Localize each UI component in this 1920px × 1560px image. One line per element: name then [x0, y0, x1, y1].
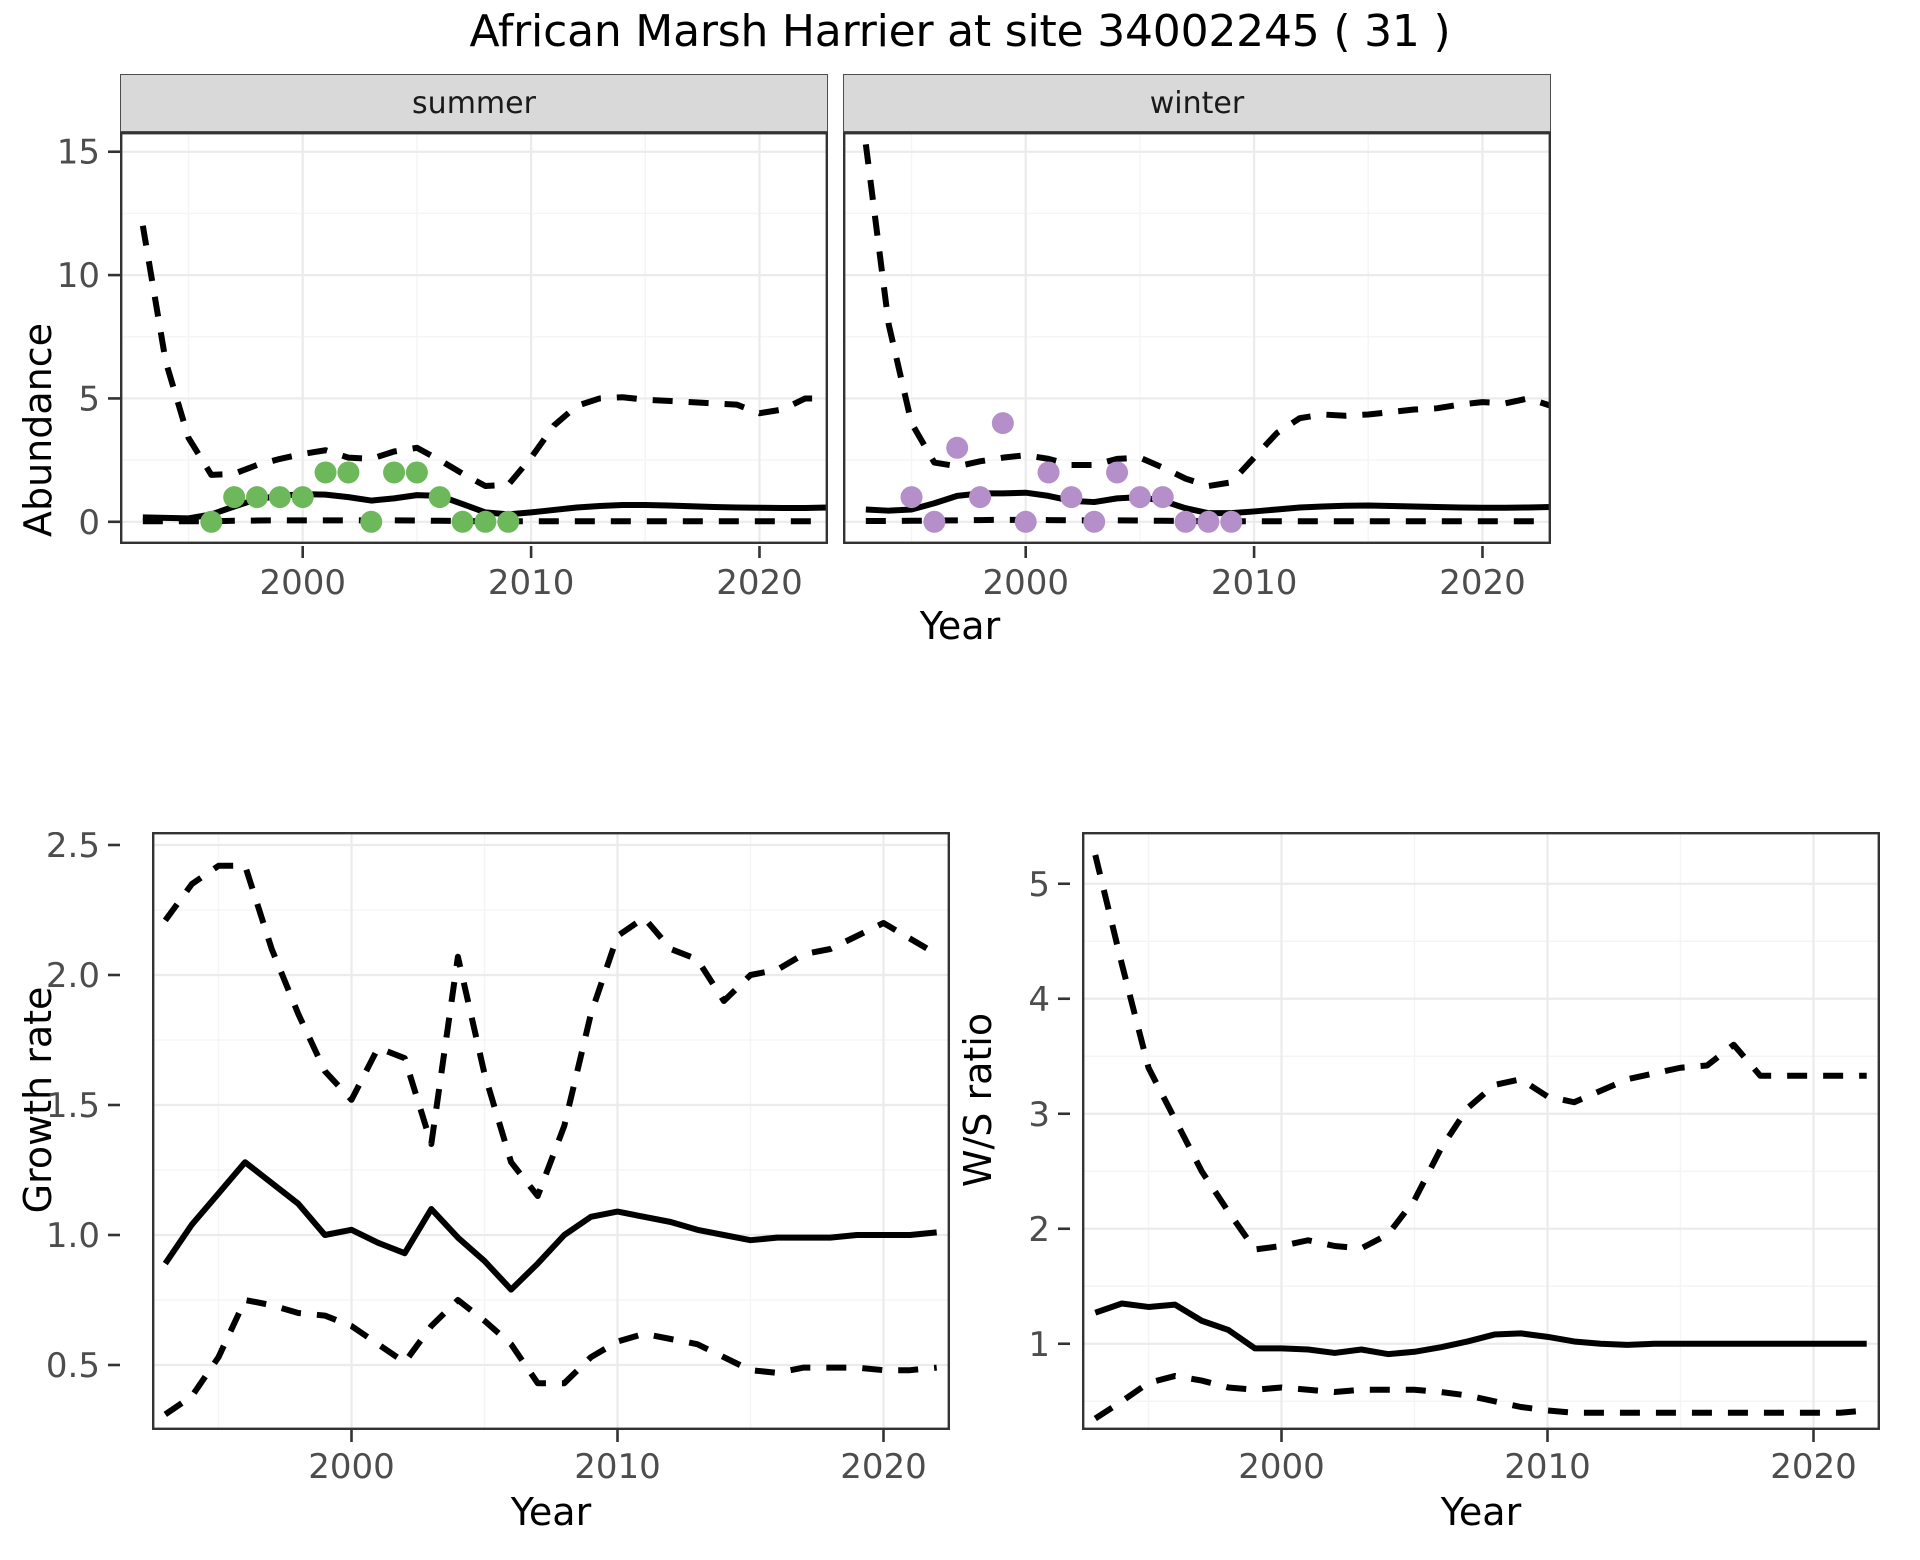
data-point [360, 511, 382, 533]
data-point [1129, 486, 1151, 508]
data-point [383, 461, 405, 483]
y-tick-label: 1.5 [46, 1086, 100, 1126]
x-tick-label: 2010 [1504, 1447, 1591, 1486]
y-tick-label: 3 [1028, 1095, 1050, 1135]
x-tick-label: 2020 [1439, 563, 1526, 603]
data-point [1175, 511, 1197, 533]
x-tick-label: 2010 [574, 1447, 661, 1486]
y-tick-label: 4 [1028, 980, 1050, 1020]
y-tick-label: 1 [1028, 1325, 1050, 1365]
data-point [223, 486, 245, 508]
figure-root: African Marsh Harrier at site 34002245 (… [0, 0, 1920, 1560]
data-point [946, 437, 968, 459]
growth-x-axis-label: Year [152, 1490, 950, 1534]
x-tick-label: 2020 [716, 563, 803, 603]
data-point [497, 511, 519, 533]
data-point [337, 461, 359, 483]
data-point [1060, 486, 1082, 508]
data-point [901, 486, 923, 508]
data-point [1083, 511, 1105, 533]
data-point [923, 511, 945, 533]
x-tick-label: 2020 [1770, 1447, 1857, 1486]
plot-background [843, 132, 1551, 544]
y-tick-label: 5 [78, 379, 100, 419]
y-tick-label: 2.5 [46, 832, 100, 866]
x-tick-label: 2010 [1211, 563, 1298, 603]
xaxis-growth: 200020102020 [152, 1430, 950, 1486]
panel-abundance-winter: winter [843, 74, 1551, 544]
data-point [992, 412, 1014, 434]
plot-background [152, 832, 950, 1430]
data-point [1106, 461, 1128, 483]
y-tick-label: 2 [1028, 1210, 1050, 1250]
data-point [315, 461, 337, 483]
y-tick-label: 2.0 [46, 956, 100, 996]
x-tick-label: 2000 [259, 563, 346, 603]
y-tick-label: 0 [78, 503, 100, 543]
data-point [292, 486, 314, 508]
data-point [200, 511, 222, 533]
plot-abundance-winter [843, 132, 1551, 544]
yaxis-growth: 0.51.01.52.02.5 [10, 832, 120, 1430]
data-point [1038, 461, 1060, 483]
data-point [269, 486, 291, 508]
x-tick-label: 2000 [982, 563, 1069, 603]
data-point [1015, 511, 1037, 533]
plot-growth-rate [152, 832, 950, 1430]
data-point [474, 511, 496, 533]
plot-abundance-summer [120, 132, 828, 544]
data-point [429, 486, 451, 508]
plot-background [120, 132, 828, 544]
data-point [246, 486, 268, 508]
y-tick-label: 15 [57, 133, 100, 173]
yaxis-abundance: 051015 [10, 132, 120, 544]
yaxis-ratio: 12345 [960, 832, 1070, 1430]
data-point [406, 461, 428, 483]
data-point [1152, 486, 1174, 508]
y-tick-label: 10 [57, 256, 100, 296]
data-point [1197, 511, 1219, 533]
x-tick-label: 2020 [840, 1447, 927, 1486]
x-tick-label: 2000 [308, 1447, 395, 1486]
panel-abundance-summer: summer [120, 74, 828, 544]
plot-ws-ratio [1082, 832, 1880, 1430]
xaxis-abundance-winter: 200020102020 [843, 546, 1551, 604]
x-tick-label: 2000 [1238, 1447, 1325, 1486]
panel-ws-ratio [1082, 832, 1880, 1430]
y-tick-label: 0.5 [46, 1346, 100, 1386]
xaxis-abundance-summer: 200020102020 [120, 546, 828, 604]
data-point [452, 511, 474, 533]
data-point [969, 486, 991, 508]
ratio-x-axis-label: Year [1082, 1490, 1880, 1534]
strip-winter: winter [843, 74, 1551, 132]
y-tick-label: 5 [1028, 865, 1050, 905]
strip-label-summer: summer [412, 86, 536, 121]
strip-summer: summer [120, 74, 828, 132]
data-point [1220, 511, 1242, 533]
y-tick-label: 1.0 [46, 1216, 100, 1256]
strip-label-winter: winter [1150, 86, 1244, 121]
panel-growth-rate [152, 832, 950, 1430]
abundance-x-axis-label: Year [0, 604, 1920, 648]
x-tick-label: 2010 [488, 563, 575, 603]
xaxis-ws-ratio: 200020102020 [1082, 1430, 1880, 1486]
page-title: African Marsh Harrier at site 34002245 (… [0, 6, 1920, 57]
